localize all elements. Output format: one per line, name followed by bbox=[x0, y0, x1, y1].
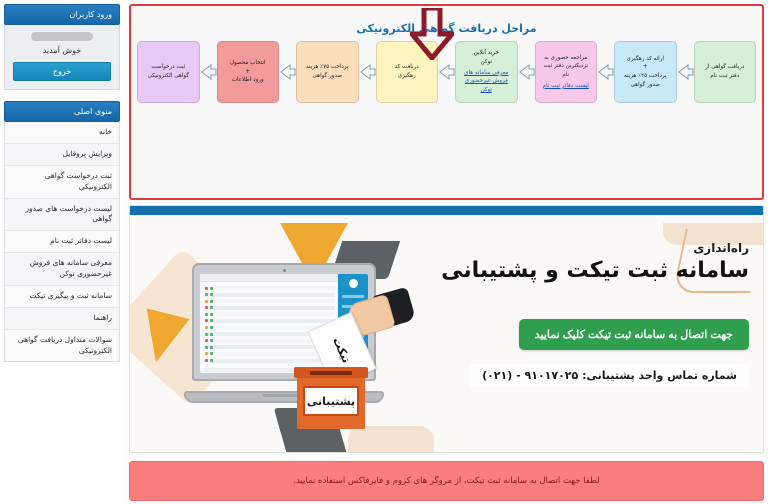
screen-table-row bbox=[204, 306, 335, 310]
flow-step-visit-office[interactable]: مراجعه حضوری به نزدیکترین دفتر ثبت نام ل… bbox=[535, 41, 598, 103]
flow-step-line1: انتخاب محصول bbox=[230, 59, 266, 68]
sidebar-item-edit-profile[interactable]: ویرایش پروفایل bbox=[5, 144, 119, 166]
main-menu-header: منوی اصلی bbox=[4, 101, 120, 122]
login-panel: ورود کاربران خوش آمدید خروج bbox=[4, 4, 120, 90]
flow-step-receive-certificate[interactable]: دریافت گواهی از دفتر ثبت نام bbox=[694, 41, 757, 103]
sidebar-item-certificate-request-list[interactable]: لیست درخواست های صدور گواهی bbox=[5, 199, 119, 232]
support-ballot-box: پشتیبانی bbox=[294, 367, 368, 429]
flow-arrow-left-icon-7 bbox=[677, 62, 694, 82]
flow-step-pay-75[interactable]: پرداخت ۷۵٪ هزینه صدور گواهی bbox=[296, 41, 359, 103]
flow-step-line1: مراجعه حضوری به bbox=[544, 54, 587, 63]
banner-top-strip bbox=[130, 206, 763, 215]
main-content: مراحل دریافت گواهی الکترونیکی ثبت درخواس… bbox=[124, 0, 768, 504]
flow-step-line1: ارائه کد رهگیری bbox=[627, 55, 664, 64]
page-root: ورود کاربران خوش آمدید خروج منوی اصلی خا… bbox=[0, 0, 768, 504]
sidebar-item-guide[interactable]: راهنما bbox=[5, 308, 119, 330]
flow-step-line2: نزدیکترین دفتر ثبت نام bbox=[540, 62, 593, 79]
flow-step-line1: ثبت درخواست bbox=[151, 63, 185, 72]
sidebar-item-online-token-sellers[interactable]: معرفی سامانه های فروش غیرحضوری توکن bbox=[5, 253, 119, 286]
decor-shape-cream-bottom bbox=[348, 426, 434, 452]
flow-step-line2: دفتر ثبت نام bbox=[710, 72, 739, 81]
flow-step-line1: خرید آنلاین bbox=[474, 49, 499, 58]
laptop-illustration: تیکت پشتیبانی bbox=[184, 263, 384, 403]
sidebar-item-ticket-system[interactable]: سامانه ثبت و پیگیری تیکت bbox=[5, 286, 119, 308]
welcome-text: خوش آمدید bbox=[13, 46, 111, 55]
banner-text-block: راه‌اندازی سامانه ثبت تیکت و پشتیبانی جه… bbox=[419, 241, 749, 387]
ballot-box-label: پشتیبانی bbox=[303, 386, 359, 416]
certificate-process-flow: مراحل دریافت گواهی الکترونیکی ثبت درخواس… bbox=[129, 4, 764, 200]
flow-arrow-left-icon-2 bbox=[279, 62, 296, 82]
flow-arrow-left-icon-5 bbox=[518, 62, 535, 82]
flow-steps-row: ثبت درخواست گواهی الکترونیکی انتخاب محصو… bbox=[137, 39, 756, 103]
screen-sidebar-line bbox=[342, 295, 364, 298]
screen-table-row bbox=[204, 286, 335, 290]
screen-table-row bbox=[204, 319, 335, 323]
flow-step-line2: رهگیری bbox=[398, 72, 416, 81]
connect-to-ticket-system-button[interactable]: جهت اتصال به سامانه ثبت تیکت کلیک نمایید bbox=[519, 319, 749, 350]
main-menu-panel: منوی اصلی خانه ویرایش پروفایل ثبت درخواس… bbox=[4, 101, 120, 362]
sidebar-item-registration-offices-list[interactable]: لیست دفاتر ثبت نام bbox=[5, 231, 119, 253]
ticket-system-banner[interactable]: تیکت پشتیبانی راه‌اندازی سامانه ثبت تیکت… bbox=[129, 205, 764, 453]
flow-arrow-left-icon-6 bbox=[597, 62, 614, 82]
sidebar: ورود کاربران خوش آمدید خروج منوی اصلی خا… bbox=[0, 0, 124, 504]
flow-step-line2: گواهی الکترونیکی bbox=[148, 72, 189, 81]
username-placeholder-bar bbox=[31, 32, 94, 41]
browser-notice-banner: لطفا جهت اتصال به سامانه ثبت تیکت، از مر… bbox=[129, 461, 764, 501]
logout-button[interactable]: خروج bbox=[13, 62, 111, 81]
screen-table-row bbox=[204, 312, 335, 316]
sidebar-item-register-certificate-request[interactable]: ثبت درخواست گواهی الکترونیکی bbox=[5, 166, 119, 199]
banner-kicker: راه‌اندازی bbox=[419, 241, 749, 255]
flow-step-line1: دریافت کد bbox=[395, 63, 419, 72]
support-phone-number: شماره تماس واحد پشتیبانی: ۹۱۰۱۷۰۲۵ - (۰۲… bbox=[470, 364, 749, 387]
flow-step-line1: دریافت گواهی از bbox=[705, 63, 744, 72]
banner-headline: سامانه ثبت تیکت و پشتیبانی bbox=[419, 257, 749, 285]
flow-arrow-left-icon-1 bbox=[200, 62, 217, 82]
flow-arrow-left-icon-4 bbox=[438, 62, 455, 82]
flow-step-line2: توکن bbox=[481, 58, 492, 67]
flow-step-buy-token[interactable]: خرید آنلاین توکن معرفی سامانه های فروش غ… bbox=[455, 41, 518, 103]
flow-step-plus: + bbox=[245, 69, 250, 76]
flow-step-line2: پرداخت ۲۵٪ هزینه صدور گواهی bbox=[619, 72, 672, 89]
sidebar-spacer bbox=[4, 90, 120, 101]
sidebar-item-home[interactable]: خانه bbox=[5, 122, 119, 144]
ballot-box-slot bbox=[310, 371, 352, 375]
flow-step-line2: ورود اطلاعات bbox=[232, 76, 264, 85]
screen-table-row bbox=[204, 293, 335, 297]
login-panel-header: ورود کاربران bbox=[4, 4, 120, 25]
flow-step-line1: پرداخت ۷۵٪ هزینه bbox=[306, 63, 349, 72]
screen-avatar-icon bbox=[349, 279, 358, 288]
main-menu-list: خانه ویرایش پروفایل ثبت درخواست گواهی ال… bbox=[4, 122, 120, 362]
flow-arrow-left-icon-3 bbox=[359, 62, 376, 82]
flow-title: مراحل دریافت گواهی الکترونیکی bbox=[137, 10, 756, 39]
banner-inner: تیکت پشتیبانی راه‌اندازی سامانه ثبت تیکت… bbox=[130, 215, 763, 452]
login-panel-body: خوش آمدید خروج bbox=[4, 25, 120, 90]
flow-step-tracking-code[interactable]: دریافت کد رهگیری bbox=[376, 41, 439, 103]
flow-step-select-product[interactable]: انتخاب محصول + ورود اطلاعات bbox=[217, 41, 280, 103]
sidebar-item-faq[interactable]: سوالات متداول دریافت گواهی الکترونیکی bbox=[5, 330, 119, 362]
flow-step-pay-25[interactable]: ارائه کد رهگیری + پرداخت ۲۵٪ هزینه صدور … bbox=[614, 41, 677, 103]
flow-step-link-token-sellers[interactable]: معرفی سامانه های فروش غیرحضوری توکن bbox=[460, 69, 513, 95]
flow-step-line2: صدور گواهی bbox=[312, 72, 342, 81]
flow-step-link-offices-list[interactable]: لیست دفاتر ثبت نام bbox=[543, 82, 589, 91]
flow-step-request[interactable]: ثبت درخواست گواهی الکترونیکی bbox=[137, 41, 200, 103]
screen-table-row bbox=[204, 299, 335, 303]
laptop-camera-icon bbox=[283, 269, 286, 272]
flow-step-plus: + bbox=[643, 64, 648, 71]
